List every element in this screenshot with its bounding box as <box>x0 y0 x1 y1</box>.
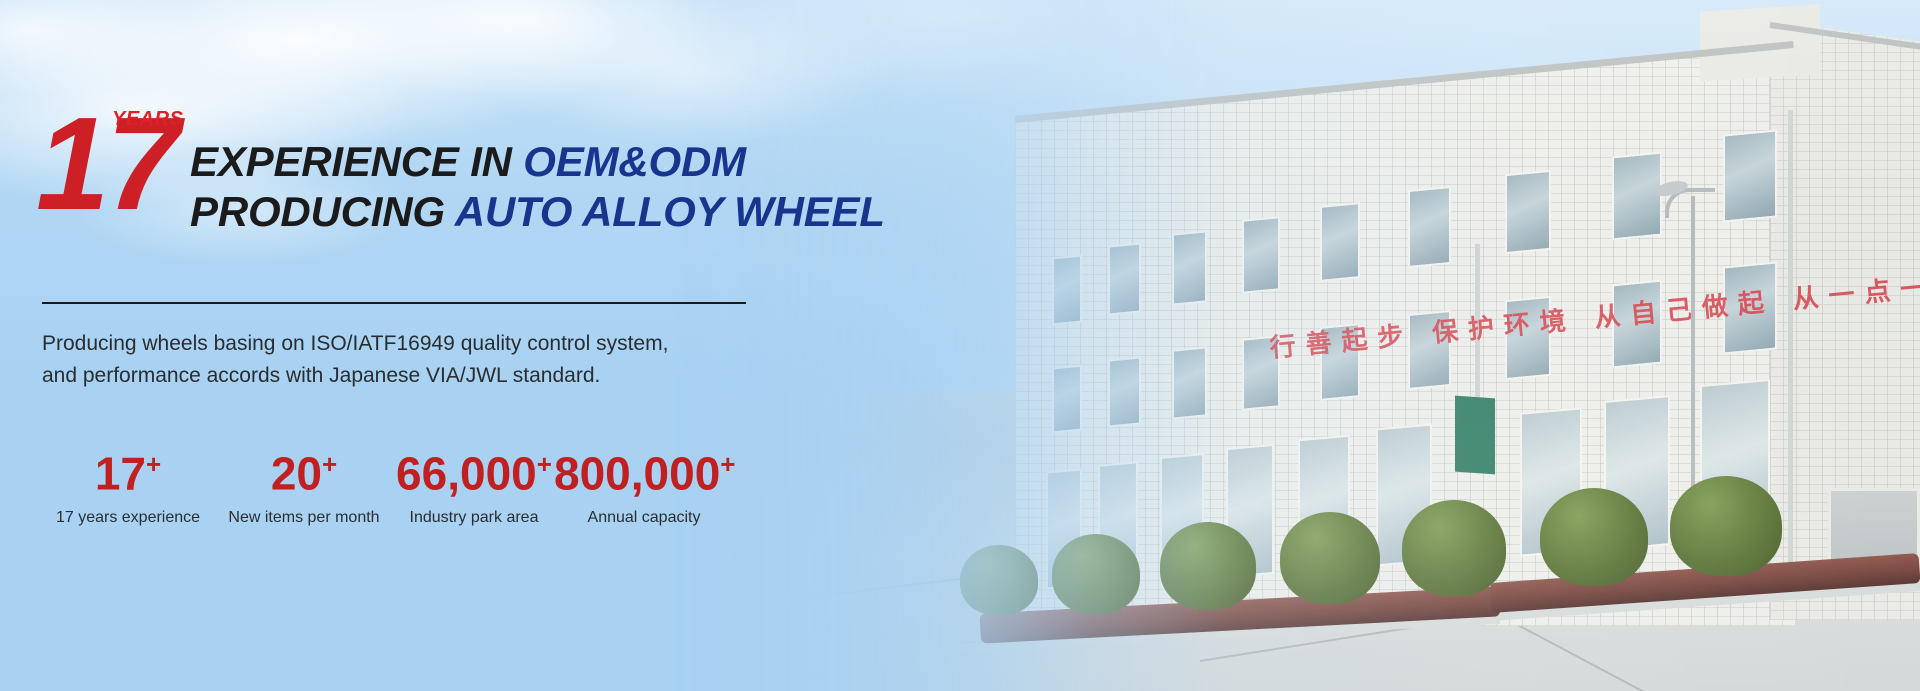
stat-number: 800,000 <box>554 447 720 499</box>
stat-suffix: + <box>720 449 735 479</box>
headline-line-2-accent: AUTO ALLOY WHEEL <box>455 188 885 235</box>
headline-line-1: EXPERIENCE IN OEM&ODM <box>190 137 885 187</box>
company-hero-banner: 行善起步 保护环境 从自己做起 从一点一滴做起 5 <box>0 0 1920 691</box>
stat-label: Annual capacity <box>554 509 734 527</box>
window <box>1172 230 1207 305</box>
headline-row: 17 YEARS EXPERIENCE IN OEM&ODM PRODUCING… <box>42 112 885 237</box>
shrub <box>1402 500 1506 596</box>
stat-item: 20+ New items per month <box>214 438 394 527</box>
stats-row: 17+ 17 years experience 20+ New items pe… <box>42 438 734 527</box>
stat-value: 66,000+ <box>394 438 554 499</box>
description-text: Producing wheels basing on ISO/IATF16949… <box>42 328 668 392</box>
stat-suffix: + <box>537 449 552 479</box>
green-wall-banner <box>1455 396 1495 475</box>
stat-value: 20+ <box>214 438 394 499</box>
stat-label: 17 years experience <box>42 509 214 527</box>
divider <box>42 302 746 304</box>
stat-number: 20 <box>271 447 322 499</box>
stat-item: 66,000+ Industry park area <box>394 438 554 527</box>
headline-line-2-plain: PRODUCING <box>190 188 455 235</box>
shrub <box>1670 476 1782 576</box>
stat-value: 800,000+ <box>554 438 734 499</box>
stat-number: 17 <box>95 447 146 499</box>
window <box>1612 152 1662 241</box>
stat-suffix: + <box>322 449 337 479</box>
window <box>1242 216 1280 294</box>
shrub <box>1160 522 1256 610</box>
banner-content: 17 YEARS EXPERIENCE IN OEM&ODM PRODUCING… <box>0 0 900 691</box>
window <box>1172 346 1207 419</box>
stat-number: 66,000 <box>396 447 537 499</box>
stat-label: New items per month <box>214 509 394 527</box>
window <box>1723 129 1777 222</box>
headline-line-1-accent: OEM&ODM <box>523 138 746 185</box>
shrub <box>1280 512 1380 604</box>
window <box>1052 255 1082 326</box>
years-badge: 17 YEARS <box>42 112 190 224</box>
window <box>1108 242 1141 315</box>
shrub <box>1052 534 1140 614</box>
stat-item: 17+ 17 years experience <box>42 438 214 527</box>
description-line-1: Producing wheels basing on ISO/IATF16949… <box>42 328 668 360</box>
window <box>1108 356 1141 427</box>
stat-item: 800,000+ Annual capacity <box>554 438 734 527</box>
window <box>1052 365 1082 434</box>
stat-label: Industry park area <box>394 509 554 527</box>
shrub <box>1540 488 1648 586</box>
description-line-2: and performance accords with Japanese VI… <box>42 360 668 392</box>
headline-line-2: PRODUCING AUTO ALLOY WHEEL <box>190 187 885 237</box>
stat-suffix: + <box>146 449 161 479</box>
stat-value: 17+ <box>42 438 214 499</box>
street-lamp-pole <box>1691 196 1695 496</box>
window <box>1408 186 1451 268</box>
years-badge-label: YEARS <box>112 108 183 131</box>
window <box>1320 202 1360 282</box>
page-title: EXPERIENCE IN OEM&ODM PRODUCING AUTO ALL… <box>190 137 885 237</box>
headline-line-1-plain: EXPERIENCE IN <box>190 138 523 185</box>
shrub <box>960 545 1038 615</box>
rooftop-structure <box>1700 4 1820 81</box>
window <box>1505 170 1551 254</box>
downspout <box>1788 110 1793 590</box>
